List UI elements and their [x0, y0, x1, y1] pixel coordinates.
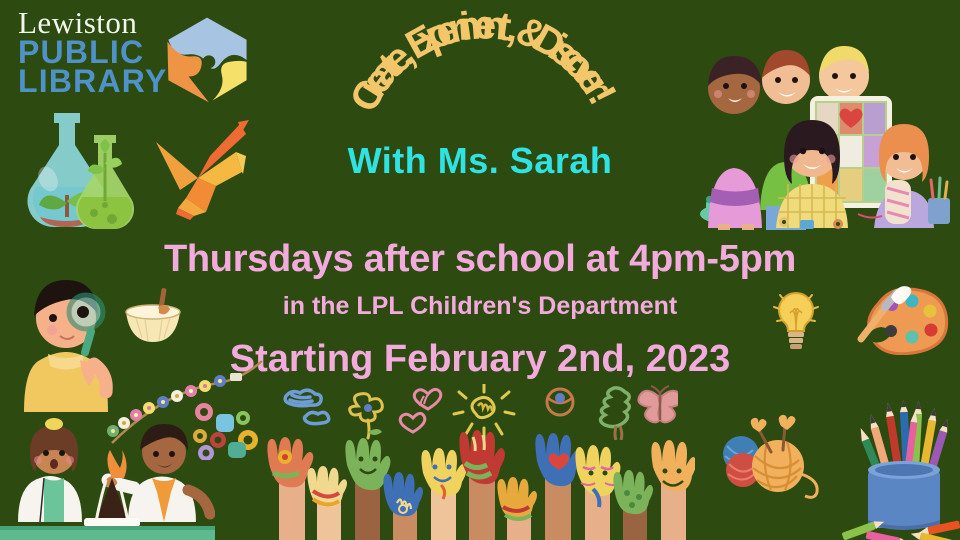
volcano-experiment-illustration: [0, 418, 215, 540]
colored-pencil-cup-icon: [840, 400, 960, 540]
paint-palette-icon: [855, 283, 950, 355]
children-quilt-illustration: [688, 38, 960, 230]
library-logo: Lewiston PUBLIC LIBRARY: [18, 8, 248, 100]
subtitle-with-ms-sarah: With Ms. Sarah: [330, 140, 630, 182]
detail-line-schedule: Thursdays after school at 4pm-5pm: [0, 238, 960, 281]
yarn-balls-icon: [715, 412, 825, 502]
poster-canvas: Lewiston PUBLIC LIBRARY Create, Experime…: [0, 0, 960, 540]
light-bulb-icon: [770, 287, 822, 355]
origami-crane-icon: [150, 112, 255, 222]
arc-headline: Create, Experiment, & Discover! Create,E…: [270, 6, 700, 246]
science-flasks-icon: [8, 105, 148, 230]
library-logo-mark-icon: [161, 14, 253, 106]
raised-painted-hands-illustration: [255, 415, 695, 540]
mixing-bowl-icon: [118, 288, 188, 348]
